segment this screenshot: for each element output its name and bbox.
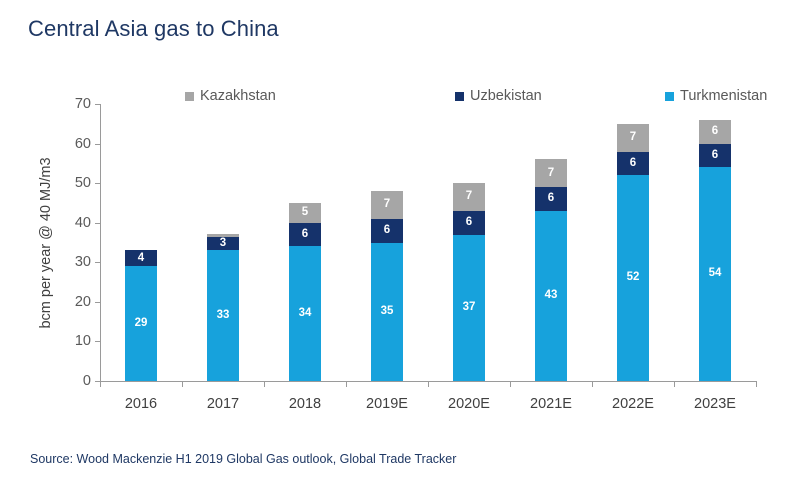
y-axis-tick-label: 0 (83, 373, 91, 389)
bar-segment-uzbekistan[interactable]: 6 (699, 144, 731, 168)
x-axis-label-2023E: 2023E (674, 396, 756, 412)
y-axis-tick-label: 10 (75, 333, 91, 349)
chart-legend: KazakhstanUzbekistanTurkmenistan (100, 86, 760, 106)
bar-segment-kazakhstan[interactable] (207, 234, 239, 237)
legend-item-uzbekistan[interactable]: Uzbekistan (455, 86, 542, 106)
y-axis-tick-mark (95, 104, 100, 105)
bar-stack-2018[interactable]: 3465 (289, 104, 321, 381)
bar-segment-kazakhstan[interactable]: 6 (699, 120, 731, 144)
bar-value-label: 43 (545, 290, 558, 302)
bar-segment-turkmenistan[interactable]: 52 (617, 175, 649, 381)
x-axis-label-2016: 2016 (100, 396, 182, 412)
x-axis-tick-mark (592, 381, 593, 387)
bar-value-label: 37 (463, 302, 476, 314)
legend-swatch-kazakhstan (185, 92, 194, 101)
bar-value-label: 6 (466, 217, 472, 229)
x-axis-label-2021E: 2021E (510, 396, 592, 412)
bar-value-label: 6 (630, 158, 636, 170)
bar-value-label: 7 (548, 168, 554, 180)
x-axis-label-2022E: 2022E (592, 396, 674, 412)
bar-stack-2019E[interactable]: 3567 (371, 104, 403, 381)
x-axis-tick-mark (674, 381, 675, 387)
bar-segment-uzbekistan[interactable]: 4 (125, 250, 157, 266)
y-axis-title: bcm per year @ 40 MJ/m3 (36, 104, 56, 381)
bar-segment-kazakhstan[interactable]: 5 (289, 203, 321, 223)
x-axis-label-2017: 2017 (182, 396, 264, 412)
source-note: Source: Wood Mackenzie H1 2019 Global Ga… (30, 452, 456, 466)
bar-stack-2021E[interactable]: 4367 (535, 104, 567, 381)
x-axis-label-2019E: 2019E (346, 396, 428, 412)
legend-swatch-uzbekistan (455, 92, 464, 101)
bar-segment-turkmenistan[interactable]: 35 (371, 243, 403, 382)
x-axis-tick-mark (346, 381, 347, 387)
bar-segment-kazakhstan[interactable]: 7 (453, 183, 485, 211)
bar-segment-uzbekistan[interactable]: 6 (535, 187, 567, 211)
bar-stack-2022E[interactable]: 5267 (617, 104, 649, 381)
y-axis-tick-mark (95, 341, 100, 342)
legend-label: Uzbekistan (470, 88, 542, 104)
bar-value-label: 34 (299, 308, 312, 320)
bar-value-label: 29 (135, 318, 148, 330)
bar-value-label: 3 (220, 238, 226, 250)
bar-value-label: 7 (630, 132, 636, 144)
bar-segment-kazakhstan[interactable]: 7 (617, 124, 649, 152)
bar-segment-turkmenistan[interactable]: 54 (699, 167, 731, 381)
chart-plot-area: 0102030405060702942016333201734652018356… (100, 104, 755, 381)
x-axis-label-2020E: 2020E (428, 396, 510, 412)
y-axis-tick-mark (95, 302, 100, 303)
bar-segment-turkmenistan[interactable]: 33 (207, 250, 239, 381)
legend-item-kazakhstan[interactable]: Kazakhstan (185, 86, 276, 106)
bar-value-label: 6 (712, 126, 718, 138)
legend-item-turkmenistan[interactable]: Turkmenistan (665, 86, 767, 106)
legend-label: Kazakhstan (200, 88, 276, 104)
bar-value-label: 33 (217, 310, 230, 322)
bar-segment-kazakhstan[interactable]: 7 (371, 191, 403, 219)
x-axis-tick-mark (428, 381, 429, 387)
y-axis-tick-mark (95, 183, 100, 184)
bar-stack-2023E[interactable]: 5466 (699, 104, 731, 381)
legend-label: Turkmenistan (680, 88, 767, 104)
bar-value-label: 6 (384, 225, 390, 237)
bar-value-label: 35 (381, 306, 394, 318)
y-axis-tick-label: 40 (75, 215, 91, 231)
y-axis-tick-mark (95, 223, 100, 224)
bar-segment-uzbekistan[interactable]: 6 (617, 152, 649, 176)
bar-segment-kazakhstan[interactable]: 7 (535, 159, 567, 187)
page-title: Central Asia gas to China (28, 16, 279, 42)
bar-value-label: 5 (302, 207, 308, 219)
bar-segment-uzbekistan[interactable]: 6 (371, 219, 403, 243)
bar-segment-turkmenistan[interactable]: 37 (453, 235, 485, 381)
bar-value-label: 6 (548, 193, 554, 205)
bar-segment-uzbekistan[interactable]: 6 (453, 211, 485, 235)
y-axis-tick-mark (95, 262, 100, 263)
y-axis-title-text: bcm per year @ 40 MJ/m3 (38, 157, 54, 328)
x-axis-label-2018: 2018 (264, 396, 346, 412)
bar-stack-2016[interactable]: 294 (125, 104, 157, 381)
bar-segment-turkmenistan[interactable]: 34 (289, 246, 321, 381)
bar-value-label: 4 (138, 253, 144, 265)
x-axis-tick-mark (510, 381, 511, 387)
bar-value-label: 7 (466, 191, 472, 203)
y-axis-tick-mark (95, 144, 100, 145)
bar-value-label: 52 (627, 272, 640, 284)
bar-segment-uzbekistan[interactable]: 6 (289, 223, 321, 247)
bar-stack-2020E[interactable]: 3767 (453, 104, 485, 381)
y-axis-tick-label: 20 (75, 294, 91, 310)
x-axis-tick-mark (756, 381, 757, 387)
bar-segment-uzbekistan[interactable]: 3 (207, 237, 239, 250)
bar-value-label: 54 (709, 268, 722, 280)
x-axis-tick-mark (100, 381, 101, 387)
y-axis-tick-label: 60 (75, 136, 91, 152)
legend-swatch-turkmenistan (665, 92, 674, 101)
bar-segment-turkmenistan[interactable]: 29 (125, 266, 157, 381)
y-axis-tick-label: 30 (75, 254, 91, 270)
y-axis-tick-label: 70 (75, 96, 91, 112)
bar-value-label: 6 (302, 229, 308, 241)
bar-segment-turkmenistan[interactable]: 43 (535, 211, 567, 381)
y-axis-tick-label: 50 (75, 175, 91, 191)
x-axis-tick-mark (264, 381, 265, 387)
bar-value-label: 6 (712, 150, 718, 162)
x-axis-tick-mark (182, 381, 183, 387)
bar-value-label: 7 (384, 199, 390, 211)
bar-stack-2017[interactable]: 333 (207, 104, 239, 381)
